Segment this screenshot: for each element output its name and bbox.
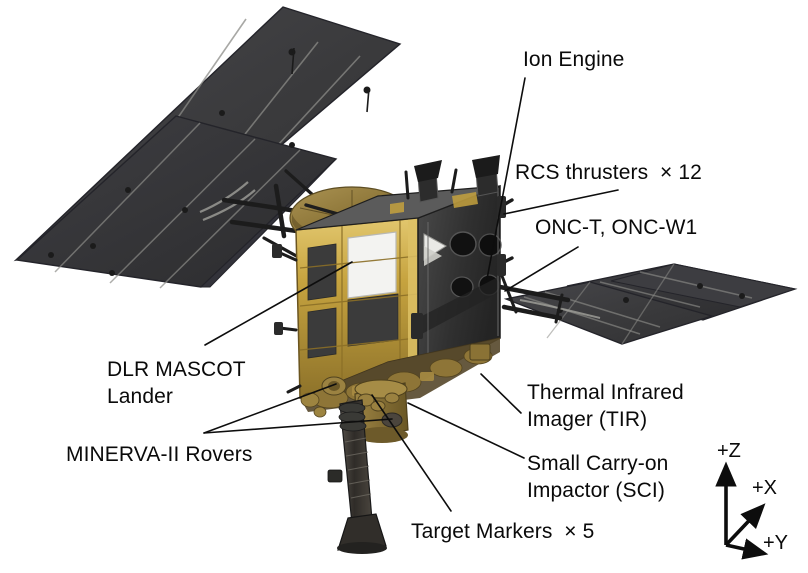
axis-label-x: +X [752,477,777,499]
axis-arrow-x [726,508,761,545]
figure-canvas: Ion Engine RCS thrusters × 12 ONC-T, ONC… [0,0,808,573]
axis-arrow-y [726,545,762,553]
axis-triad [0,0,808,573]
axis-label-y: +Y [763,532,788,554]
axis-label-z: +Z [717,440,741,462]
